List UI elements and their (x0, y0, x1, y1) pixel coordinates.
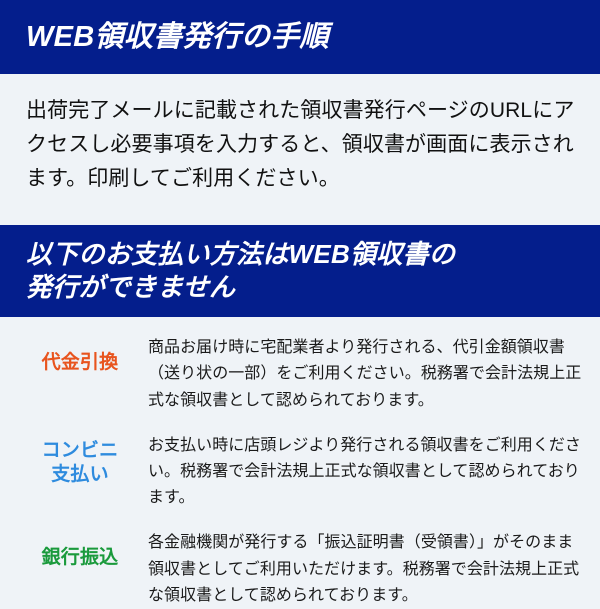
main-header-banner: WEB領収書発行の手順 (0, 0, 600, 74)
payment-method-row-convenience-store: コンビニ 支払い お支払い時に店頭レジより発行される領収書をご利用ください。税務… (26, 433, 586, 512)
payment-method-description-bank-transfer: 各金融機関が発行する「振込証明書（受領書）」がそのまま領収書としてご利用いただけ… (134, 530, 586, 609)
payment-method-label-cod: 代金引換 (26, 335, 134, 375)
payment-method-row-cod: 代金引換 商品お届け時に宅配業者より発行される、代引金額領収書（送り状の一部）を… (26, 335, 586, 414)
payment-method-label-bank-transfer: 銀行振込 (26, 530, 134, 570)
sub-header-banner: 以下のお支払い方法はWEB領収書の 発行ができません (0, 225, 600, 317)
payment-method-description-convenience-store: お支払い時に店頭レジより発行される領収書をご利用ください。税務署で会計法規上正式… (134, 433, 586, 512)
payment-method-description-cod: 商品お届け時に宅配業者より発行される、代引金額領収書（送り状の一部）をご利用くだ… (134, 335, 586, 414)
payment-method-list: 代金引換 商品お届け時に宅配業者より発行される、代引金額領収書（送り状の一部）を… (0, 317, 600, 609)
payment-method-row-bank-transfer: 銀行振込 各金融機関が発行する「振込証明書（受領書）」がそのまま領収書としてご利… (26, 530, 586, 609)
payment-method-label-convenience-store: コンビニ 支払い (26, 433, 134, 488)
sub-header-title: 以下のお支払い方法はWEB領収書の 発行ができません (26, 238, 455, 305)
intro-paragraph: 出荷完了メールに記載された領収書発行ページのURLにアクセスし必要事項を入力する… (0, 74, 600, 196)
receipt-info-page: WEB領収書発行の手順 出荷完了メールに記載された領収書発行ページのURLにアク… (0, 0, 600, 600)
page-title: WEB領収書発行の手順 (26, 20, 329, 54)
